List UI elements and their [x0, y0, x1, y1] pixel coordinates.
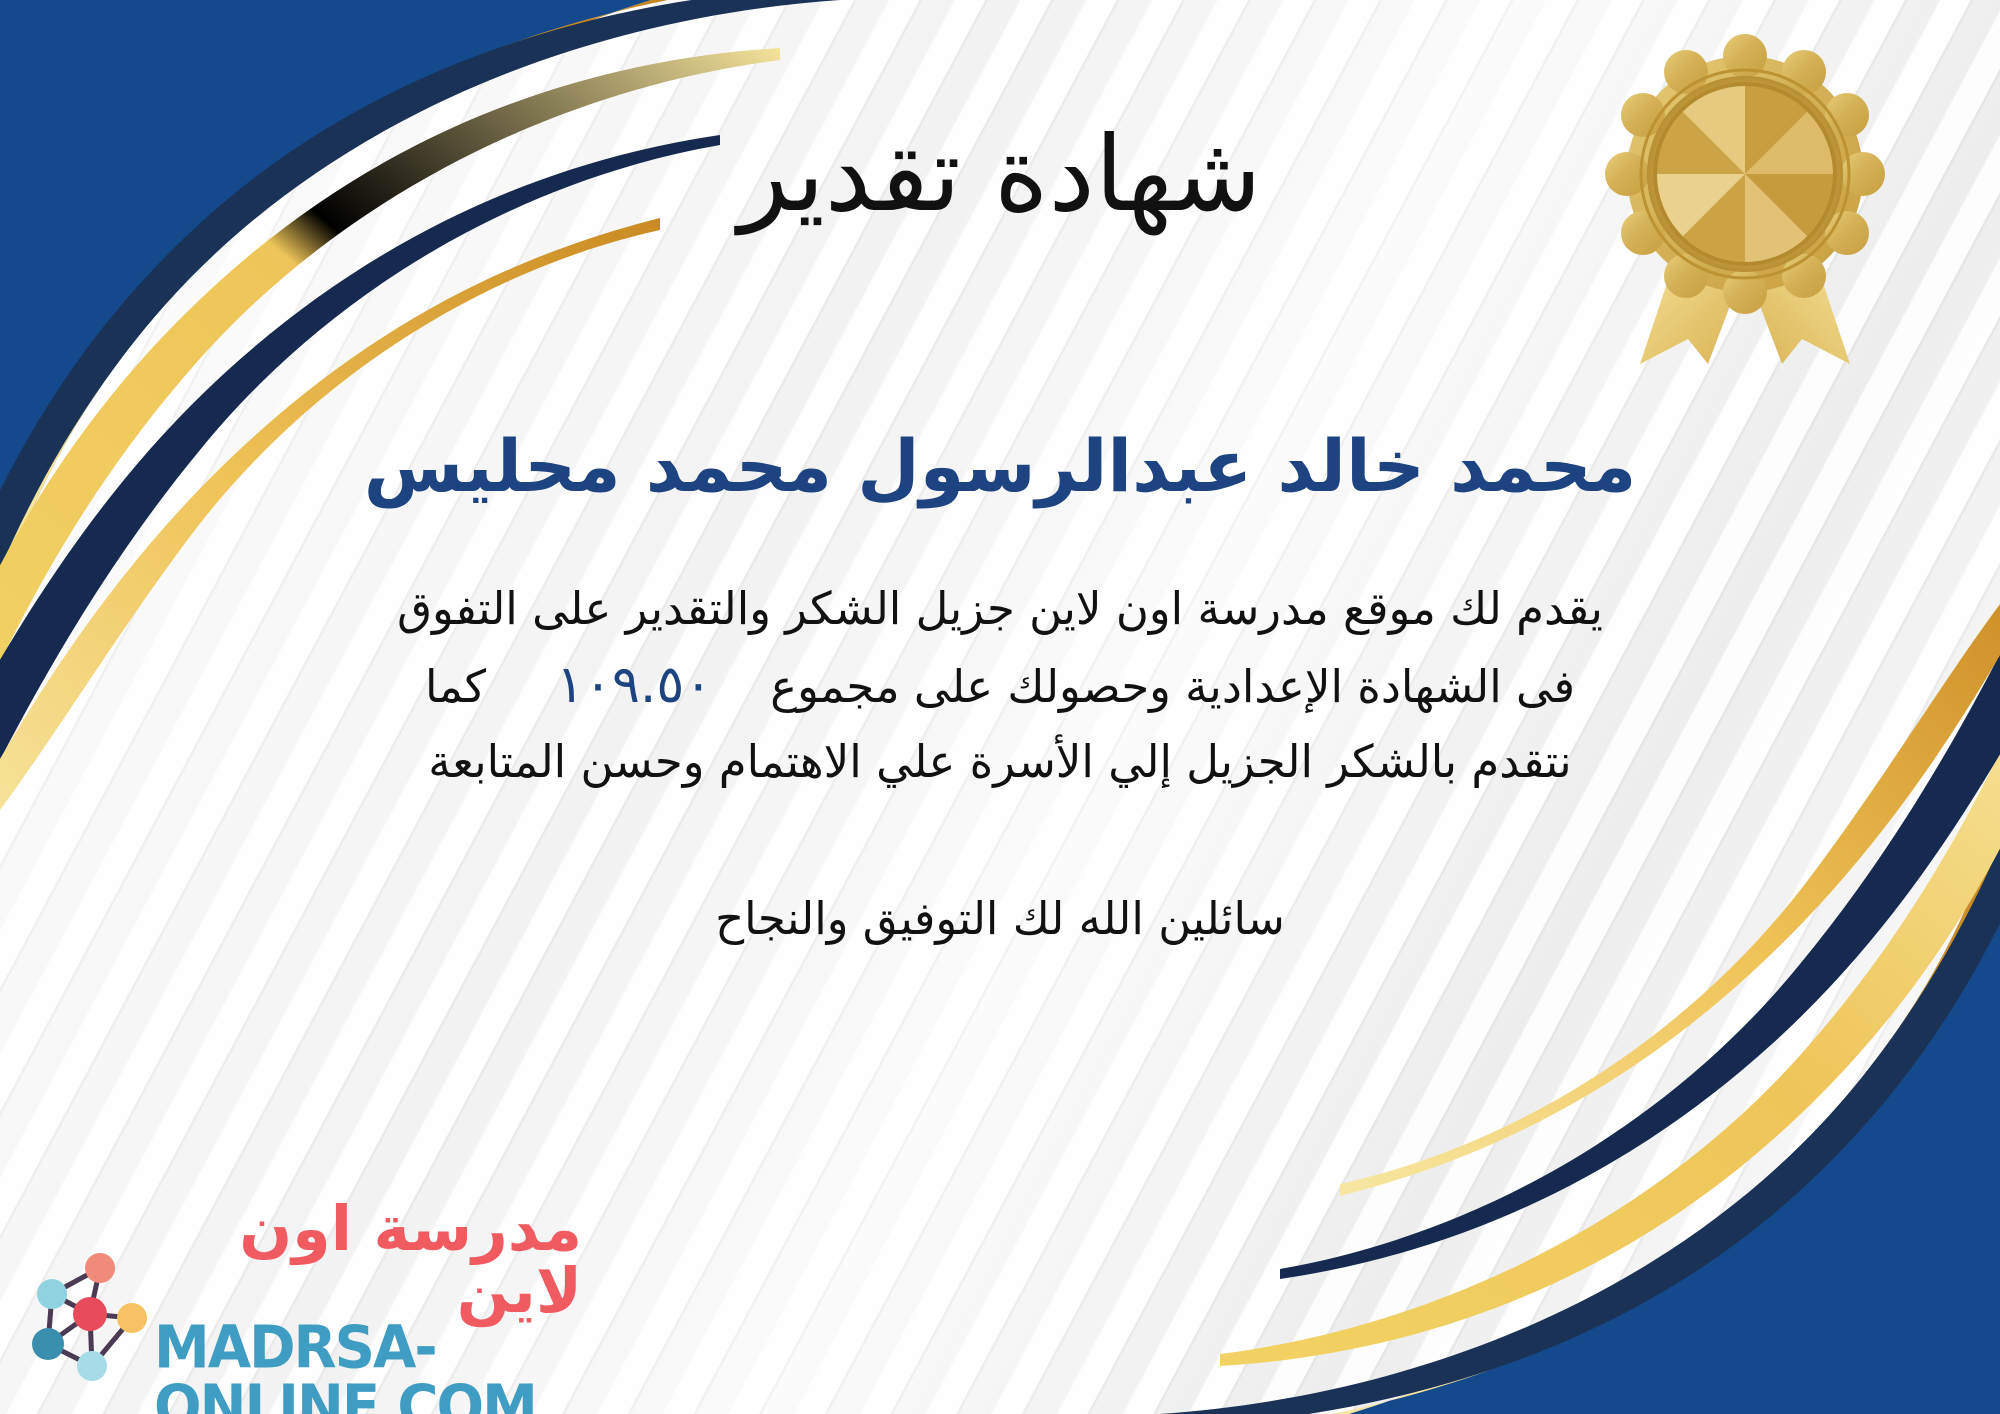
- network-nodes-icon: [22, 1246, 150, 1386]
- body-line-2-suffix: كما: [425, 660, 486, 713]
- body-line-2-prefix: فى الشهادة الإعدادية وحصولك على مجموع: [770, 660, 1575, 713]
- body-line-3: نتقدم بالشكر الجزيل إلي الأسرة علي الاهت…: [70, 726, 1930, 797]
- certificate-body: يقدم لك موقع مدرسة اون لاين جزيل الشكر و…: [70, 507, 1930, 797]
- body-line-1: يقدم لك موقع مدرسة اون لاين جزيل الشكر و…: [70, 573, 1930, 644]
- body-line-2: فى الشهادة الإعدادية وحصولك على مجموع١٠٩…: [70, 644, 1930, 726]
- certificate-canvas: شهادة تقدير محمد خالد عبدالرسول محمد محل…: [0, 0, 2000, 1414]
- total-score-value: ١٠٩.٥٠: [486, 644, 770, 726]
- logo-website-url: MADRSA-ONLINE.COM: [154, 1319, 582, 1414]
- site-logo[interactable]: مدرسة اون لاين MADRSA-ONLINE.COM: [22, 1236, 582, 1396]
- logo-arabic-name: مدرسة اون لاين: [154, 1198, 582, 1322]
- recipient-name: محمد خالد عبدالرسول محمد محليس: [0, 230, 2000, 507]
- logo-text-block: مدرسة اون لاين MADRSA-ONLINE.COM: [154, 1198, 582, 1414]
- certificate-title: شهادة تقدير: [0, 0, 2000, 230]
- closing-wish: سائلين الله لك التوفيق والنجاح: [0, 797, 2000, 953]
- certificate-content: شهادة تقدير محمد خالد عبدالرسول محمد محل…: [0, 0, 2000, 953]
